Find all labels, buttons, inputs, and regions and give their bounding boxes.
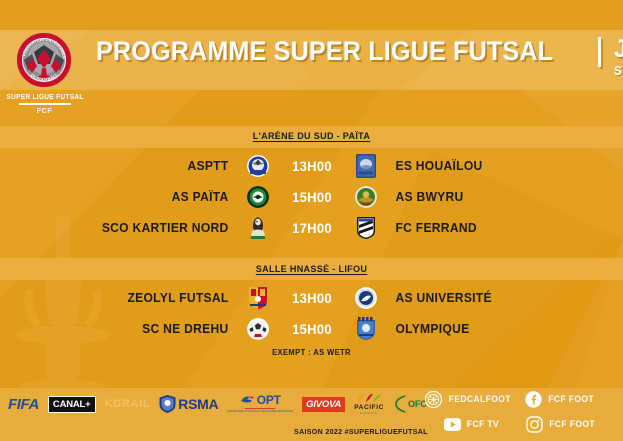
ofc-logo-label: OFC (408, 399, 427, 409)
facebook-icon (525, 391, 542, 408)
home-team-logo-slot (235, 186, 281, 208)
social-link-facebook[interactable]: FCF FOOT (525, 391, 595, 408)
away-team-name: ES HOUAÏLOU (395, 158, 567, 173)
givova-logo-icon: GIVOVA (302, 397, 345, 412)
league-badge: SUPER LIGUE FUTSAL FCF (3, 92, 86, 115)
sponsor-fifa: FIFA (8, 393, 39, 415)
opt-logo-label: OPT (257, 393, 281, 407)
social-row-top: FEDCALFOOT FCF FOOT (425, 388, 615, 410)
page-title: PROGRAMME SUPER LIGUE FUTSAL (96, 36, 553, 66)
as-bwyru-logo-icon (355, 186, 377, 208)
sco-kartier-nord-logo-icon (248, 216, 268, 240)
sponsor-rsma: RSMA (159, 393, 218, 415)
sponsor-pacific-games: PACIFIC GAMES (354, 393, 384, 415)
olympique-logo-icon (356, 317, 376, 341)
youtube-icon (444, 416, 461, 433)
fixture-row: AS PAÏTA 15H00 (0, 181, 623, 212)
season-hashtag: SAISON 2022 #SUPERLIGUEFUTSAL (294, 427, 428, 436)
away-team-name: FC FERRAND (395, 220, 567, 235)
pacific-logo-label: PACIFIC (354, 404, 384, 411)
opt-rule (245, 408, 275, 409)
sponsor-opt: OPT OFFICE DES POSTES ET TÉLÉCOMMUNICATI… (227, 393, 293, 415)
rsma-logo-label: RSMA (178, 396, 218, 412)
home-team-name: SCO KARTIER NORD (56, 220, 228, 235)
sponsor-strip: FIFA CANAL+ KDRAIL RSMA OPT (8, 393, 427, 415)
opt-bird-icon (240, 394, 256, 406)
pacific-logo-sub: GAMES (360, 411, 378, 415)
rsma-shield-icon (159, 395, 176, 413)
fcf-crest-icon: FÉDÉRATION CALÉDONIENNE DE FOOTBALL (16, 32, 72, 88)
zeolyl-futsal-logo-icon (248, 286, 268, 310)
matchday-date: SAMEDI 14 MAI (614, 64, 623, 78)
away-team-logo-slot (343, 186, 389, 208)
away-team-logo-slot (343, 287, 389, 309)
exempt-note: EXEMPT : AS WETR (16, 348, 608, 357)
fixture-row: ASPTT 13H00 (0, 150, 623, 181)
social-link-instagram[interactable]: FCF FOOT (526, 416, 596, 433)
as-paita-logo-icon (247, 186, 269, 208)
home-team-logo-slot (235, 155, 281, 177)
away-team-name: AS UNIVERSITÉ (395, 290, 567, 305)
away-team-name: AS BWYRU (395, 189, 567, 204)
fixture-row: SC NE DREHU 15H00 (0, 313, 623, 344)
sc-ne-drehu-logo-icon (247, 318, 269, 340)
away-team-logo-slot (343, 317, 389, 341)
league-badge-line1: SUPER LIGUE FUTSAL (6, 92, 82, 101)
social-label: FEDCALFOOT (449, 394, 511, 404)
canal-plus-logo-icon: CANAL+ (48, 396, 96, 413)
opt-logo-sub: OFFICE DES POSTES ET TÉLÉCOMMUNICATIONS (227, 410, 293, 413)
fixture-list-1: ASPTT 13H00 (0, 150, 623, 243)
home-team-logo-slot (235, 318, 281, 340)
fixture-row: ZEOLYL FUTSAL 13H00 (0, 282, 623, 313)
sponsor-kdrail: KDRAIL (105, 393, 151, 415)
home-team-name: SC NE DREHU (56, 321, 228, 336)
fc-ferrand-logo-icon (356, 216, 376, 240)
kickoff-time: 15H00 (283, 189, 341, 205)
home-team-logo-slot (235, 286, 281, 310)
away-team-logo-slot (343, 154, 389, 178)
home-team-name: ZEOLYL FUTSAL (56, 290, 228, 305)
title-right-block: JOURNÉE 7 SAMEDI 14 MAI (614, 36, 623, 78)
venue-title-1: L'ARÈNE DU SUD - PAÏTA (16, 131, 608, 142)
kickoff-time: 17H00 (283, 220, 341, 236)
kdrail-logo-icon: KDRAIL (105, 398, 151, 410)
title-separator (598, 37, 601, 67)
venue-title-2: SALLE HNASSÉ - LIFOU (16, 264, 608, 275)
poster-title-block: PROGRAMME SUPER LIGUE FUTSAL JOURNÉE 7 S… (96, 36, 623, 78)
ofc-arc-icon (393, 395, 407, 413)
sponsor-canal-plus: CANAL+ (48, 393, 96, 415)
kickoff-time: 13H00 (283, 290, 341, 306)
kickoff-time: 15H00 (283, 321, 341, 337)
matchday-title: JOURNÉE 7 (614, 36, 623, 63)
social-row-bottom: FCF TV FCF FOOT (425, 413, 615, 435)
league-badge-line2: FCF (3, 106, 86, 115)
away-team-logo-slot (343, 216, 389, 240)
es-houailou-logo-icon (356, 154, 376, 178)
pacific-games-mark-icon (356, 393, 382, 404)
social-link-youtube[interactable]: FCF TV (444, 416, 500, 433)
home-team-name: ASPTT (56, 158, 228, 173)
social-label: FCF TV (467, 419, 499, 429)
social-label: FCF FOOT (548, 394, 594, 404)
top-strip (0, 0, 623, 30)
futsal-program-poster: FÉDÉRATION CALÉDONIENNE DE FOOTBALL SUPE… (0, 0, 623, 441)
instagram-icon (526, 416, 543, 433)
as-universite-logo-icon (355, 287, 377, 309)
kickoff-time: 13H00 (283, 158, 341, 174)
home-team-logo-slot (235, 216, 281, 240)
fedcalfoot-icon (425, 391, 442, 408)
sponsor-ofc: OFC (393, 393, 427, 415)
social-label: FCF FOOT (549, 419, 595, 429)
fixture-row: SCO KARTIER NORD 17H00 (0, 212, 623, 243)
social-link-fedcalfoot[interactable]: FEDCALFOOT (425, 391, 513, 408)
away-team-name: OLYMPIQUE (395, 321, 567, 336)
opt-logo-row: OPT (240, 393, 281, 407)
social-links: FEDCALFOOT FCF FOOT FCF TV (425, 388, 615, 435)
sponsor-givova: GIVOVA (302, 393, 345, 415)
fixture-list-2: ZEOLYL FUTSAL 13H00 (0, 282, 623, 344)
home-team-name: AS PAÏTA (56, 189, 228, 204)
fifa-logo-icon: FIFA (8, 396, 39, 413)
asptt-logo-icon (247, 155, 269, 177)
league-badge-rule (19, 103, 71, 105)
